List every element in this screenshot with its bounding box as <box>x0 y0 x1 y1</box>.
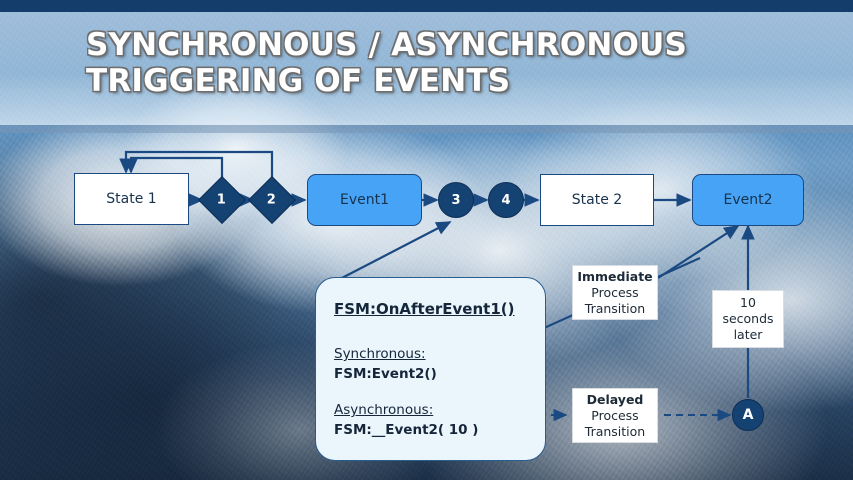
note-immediate-line2: Process <box>591 285 638 301</box>
callout-async-code: FSM:__Event2( 10 ) <box>334 422 478 438</box>
slide-canvas: SYNCHRONOUS / ASYNCHRONOUS TRIGGERING OF… <box>0 0 853 480</box>
note-delay-line1: 10 <box>740 295 756 311</box>
node-state1-label: State 1 <box>106 191 156 207</box>
node-event2[interactable]: Event2 <box>692 174 804 226</box>
node-decision-1-label: 1 <box>217 192 226 207</box>
callout-title: FSM:OnAfterEvent1() <box>334 300 514 318</box>
node-decision-2-label: 2 <box>267 192 276 207</box>
note-delayed-head: Delayed <box>587 392 644 408</box>
node-async-target-marker-label: A <box>743 407 754 423</box>
fsm-callout-box[interactable]: FSM:OnAfterEvent1() Synchronous: FSM:Eve… <box>315 277 546 461</box>
callout-sync-code: FSM:Event2() <box>334 366 437 382</box>
note-immediate-transition: Immediate Process Transition <box>572 265 658 320</box>
note-immediate-head: Immediate <box>577 269 652 285</box>
node-state1[interactable]: State 1 <box>74 173 189 225</box>
note-delayed-line3: Transition <box>585 424 645 440</box>
callout-sync-label: Synchronous: <box>334 346 426 362</box>
node-step-4[interactable]: 4 <box>488 182 524 218</box>
note-immediate-line3: Transition <box>585 301 645 317</box>
edge-callout-to-3 <box>338 222 450 280</box>
node-step-3-label: 3 <box>451 193 460 208</box>
note-delayed-line2: Process <box>591 408 638 424</box>
node-event1-label: Event1 <box>340 192 389 208</box>
node-step-3[interactable]: 3 <box>438 182 474 218</box>
note-delay-line2: seconds <box>722 311 773 327</box>
node-event2-label: Event2 <box>723 192 772 208</box>
node-async-target-marker[interactable]: A <box>732 399 764 431</box>
node-step-4-label: 4 <box>501 193 510 208</box>
callout-async-label: Asynchronous: <box>334 402 433 418</box>
note-delayed-transition: Delayed Process Transition <box>572 388 658 443</box>
note-delay-line3: later <box>734 327 763 343</box>
note-delay-duration: 10 seconds later <box>712 290 784 348</box>
node-state2-label: State 2 <box>572 192 622 208</box>
node-state2[interactable]: State 2 <box>540 174 654 226</box>
node-event1[interactable]: Event1 <box>307 174 422 226</box>
edge-immediate-to-event2 <box>658 226 738 278</box>
